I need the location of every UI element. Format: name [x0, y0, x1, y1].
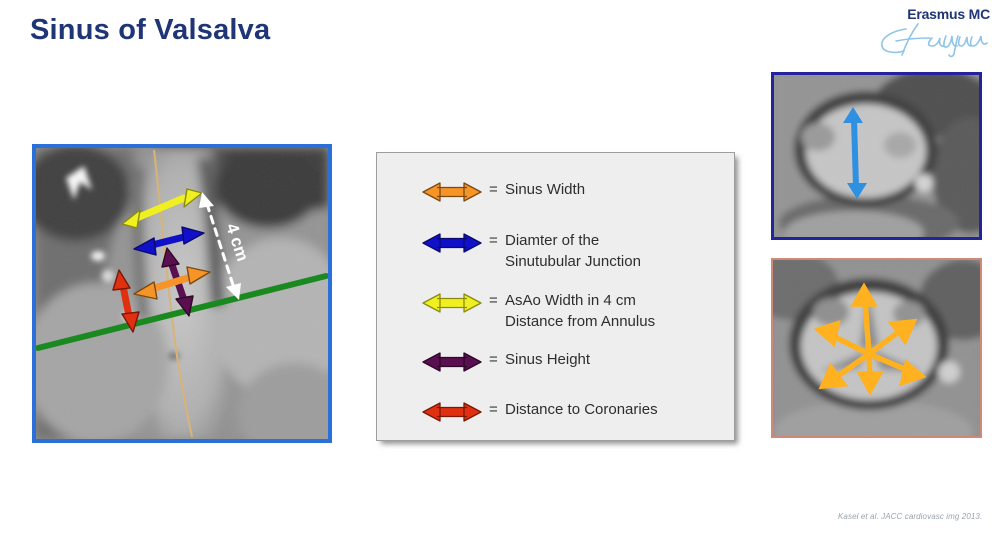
logo-wordmark: Erasmus MC — [907, 6, 990, 22]
sagittal-ct-aortic-root: 4 cm — [32, 144, 332, 443]
legend-item-sinus-width: = Sinus Width — [421, 179, 585, 204]
page-title: Sinus of Valsalva — [30, 14, 270, 47]
legend-equals: = — [483, 179, 505, 200]
distance-to-coronaries-arrow-icon — [421, 400, 483, 424]
legend-label-sinus-width: Sinus Width — [505, 179, 585, 200]
logo-signature-icon — [872, 22, 992, 58]
legend-equals: = — [483, 230, 505, 251]
source-citation: Kasel et al. JACC cardiovasc img 2013. — [838, 512, 982, 521]
legend-equals: = — [483, 399, 505, 420]
legend-label-sinus-height: Sinus Height — [505, 349, 590, 370]
sinus-width-arrow-icon — [421, 180, 483, 204]
legend-item-sinutubular-junction: = Diamter of the Sinutubular Junction — [421, 230, 641, 272]
legend-label-distance-to-coronaries: Distance to Coronaries — [505, 399, 658, 420]
legend-label-sinutubular-junction: Diamter of the Sinutubular Junction — [505, 230, 641, 272]
legend-item-asao-width: = AsAo Width in 4 cm Distance from Annul… — [421, 290, 655, 332]
asao-width-arrow-icon — [421, 291, 483, 315]
legend-equals: = — [483, 349, 505, 370]
sinus-height-arrow-icon — [421, 350, 483, 374]
axial-ct-sinus-widths — [771, 258, 982, 438]
legend-label-asao-width: AsAo Width in 4 cm Distance from Annulus — [505, 290, 655, 332]
legend-item-sinus-height: = Sinus Height — [421, 349, 590, 374]
legend-box: = Sinus Width = Diamter of the Sinutubul… — [376, 152, 735, 441]
legend-equals: = — [483, 290, 505, 311]
erasmus-mc-logo: Erasmus MC — [872, 6, 992, 58]
sinutubular-junction-arrow-icon — [421, 231, 483, 255]
axial-ct-sinutubular-junction — [771, 72, 982, 240]
legend-item-distance-to-coronaries: = Distance to Coronaries — [421, 399, 658, 424]
